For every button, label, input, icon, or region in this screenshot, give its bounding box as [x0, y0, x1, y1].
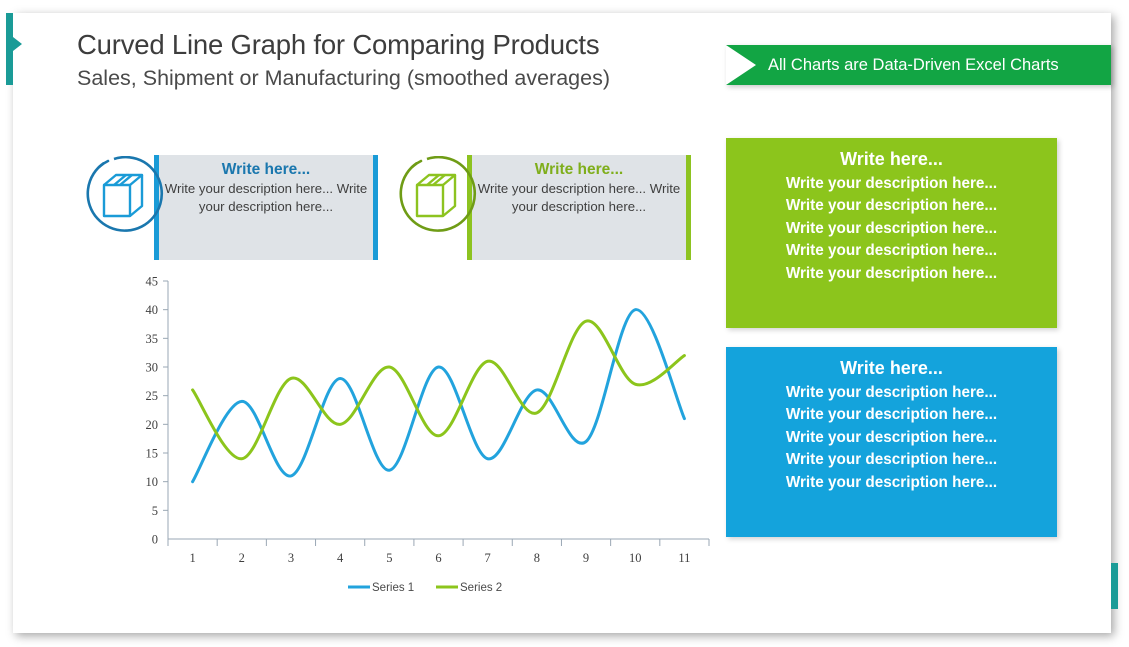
info-card-text: Write here... Write your description her…: [477, 161, 681, 215]
series-line-series-1: [193, 310, 685, 482]
chevron-right-icon: [726, 45, 756, 85]
side-panel-line: Write your description here...: [726, 427, 1057, 449]
y-tick-label: 10: [146, 475, 159, 489]
legend-label: Series 1: [372, 582, 414, 591]
page-title: Curved Line Graph for Comparing Products: [77, 29, 610, 61]
side-panel-heading: Write here...: [726, 358, 1057, 379]
info-card-rule-right: [373, 155, 378, 260]
info-card-text: Write here... Write your description her…: [164, 161, 368, 215]
teal-arrow-icon: [13, 37, 22, 51]
page-subtitle: Sales, Shipment or Manufacturing (smooth…: [77, 66, 610, 91]
side-panel-line: Write your description here...: [726, 218, 1057, 240]
side-panel-line: Write your description here...: [726, 173, 1057, 195]
info-card-body: Write your description here... Write you…: [477, 180, 681, 215]
x-tick-label: 9: [583, 551, 589, 565]
chart-canvas: 0510152025303540451234567891011Series 1S…: [113, 271, 723, 591]
info-card-heading: Write here...: [477, 161, 681, 179]
slide-canvas: Curved Line Graph for Comparing Products…: [13, 13, 1111, 633]
y-tick-label: 20: [146, 418, 159, 432]
x-tick-label: 7: [485, 551, 491, 565]
side-panel-line: Write your description here...: [726, 263, 1057, 285]
side-panel-line: Write your description here...: [726, 472, 1057, 494]
teal-accent-bar-right: [1111, 563, 1118, 609]
info-card-rule-right: [686, 155, 691, 260]
box-3d-icon: [84, 156, 166, 238]
line-chart: 0510152025303540451234567891011Series 1S…: [113, 271, 723, 591]
side-panel-heading: Write here...: [726, 149, 1057, 170]
teal-accent-bar-left: [6, 13, 13, 85]
side-panel-line: Write your description here...: [726, 449, 1057, 471]
side-panel-line: Write your description here...: [726, 195, 1057, 217]
y-tick-label: 25: [146, 389, 159, 403]
info-card-heading: Write here...: [164, 161, 368, 179]
y-tick-label: 45: [146, 275, 159, 289]
x-tick-label: 11: [678, 551, 690, 565]
side-panel-blue[interactable]: Write here... Write your description her…: [726, 347, 1057, 537]
info-card-body: Write your description here... Write you…: [164, 180, 368, 215]
banner-label: All Charts are Data-Driven Excel Charts: [768, 56, 1059, 75]
side-panel-line: Write your description here...: [726, 240, 1057, 262]
y-tick-label: 5: [152, 504, 158, 518]
data-driven-banner: All Charts are Data-Driven Excel Charts: [726, 45, 1111, 85]
x-tick-label: 2: [239, 551, 245, 565]
y-tick-label: 40: [146, 303, 159, 317]
x-tick-label: 6: [435, 551, 441, 565]
side-panel-line: Write your description here...: [726, 404, 1057, 426]
x-tick-label: 4: [337, 551, 344, 565]
y-tick-label: 0: [152, 533, 158, 547]
x-tick-label: 8: [534, 551, 540, 565]
y-tick-label: 30: [146, 361, 159, 375]
legend-label: Series 2: [460, 582, 502, 591]
x-tick-label: 3: [288, 551, 294, 565]
side-panel-green[interactable]: Write here... Write your description her…: [726, 138, 1057, 328]
x-tick-label: 5: [386, 551, 392, 565]
title-block: Curved Line Graph for Comparing Products…: [77, 29, 610, 91]
y-tick-label: 15: [146, 447, 159, 461]
side-panel-line: Write your description here...: [726, 382, 1057, 404]
box-3d-icon: [397, 156, 479, 238]
x-tick-label: 10: [629, 551, 642, 565]
x-tick-label: 1: [189, 551, 195, 565]
y-tick-label: 35: [146, 332, 159, 346]
